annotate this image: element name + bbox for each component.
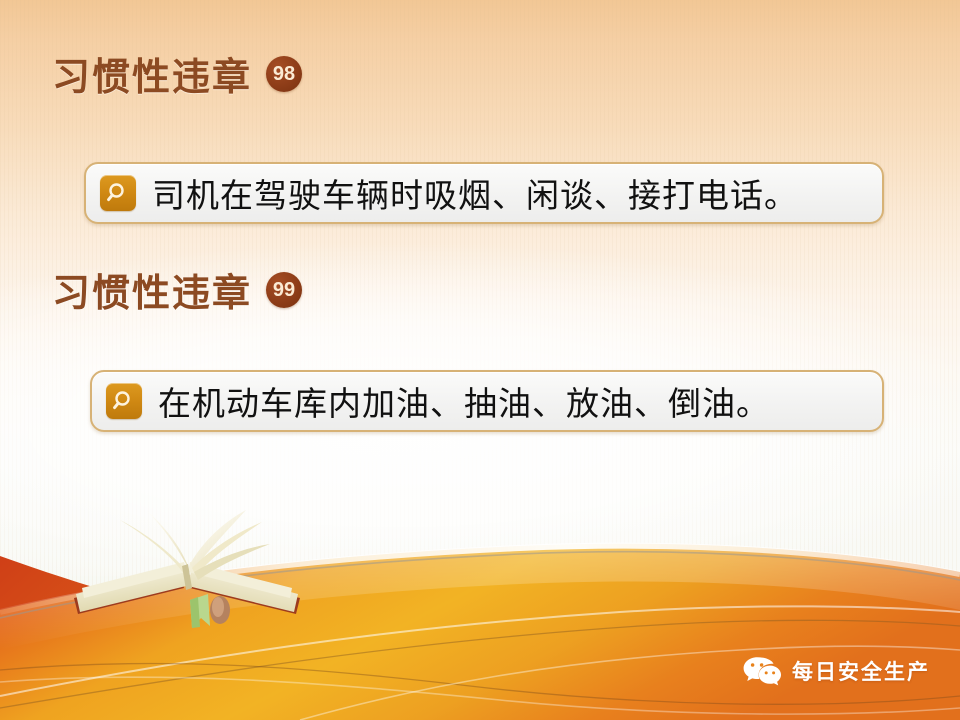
statement-text: 司机在驾驶车辆时吸烟、闲谈、接打电话。	[152, 169, 798, 217]
watermark: 每日安全生产	[742, 655, 930, 687]
heading-label: 习惯性违章	[52, 46, 252, 101]
open-book-icon	[62, 502, 312, 642]
heading-label: 习惯性违章	[52, 262, 252, 317]
statement-box-2: 在机动车库内加油、抽油、放油、倒油。	[90, 370, 884, 432]
statement-text: 在机动车库内加油、抽油、放油、倒油。	[158, 377, 770, 425]
slide-canvas: 习惯性违章 98 司机在驾驶车辆时吸烟、闲谈、接打电话。 习惯性违章 99 在机…	[0, 0, 960, 720]
statement-box-1: 司机在驾驶车辆时吸烟、闲谈、接打电话。	[84, 162, 884, 224]
magnifier-icon	[106, 383, 142, 419]
wechat-icon	[742, 655, 782, 687]
section-heading-1: 习惯性违章 98	[52, 46, 302, 101]
watermark-label: 每日安全生产	[792, 656, 930, 686]
magnifier-icon	[100, 175, 136, 211]
section-heading-2: 习惯性违章 99	[52, 262, 302, 317]
status-badge: 99	[266, 272, 302, 308]
status-badge: 98	[266, 56, 302, 92]
